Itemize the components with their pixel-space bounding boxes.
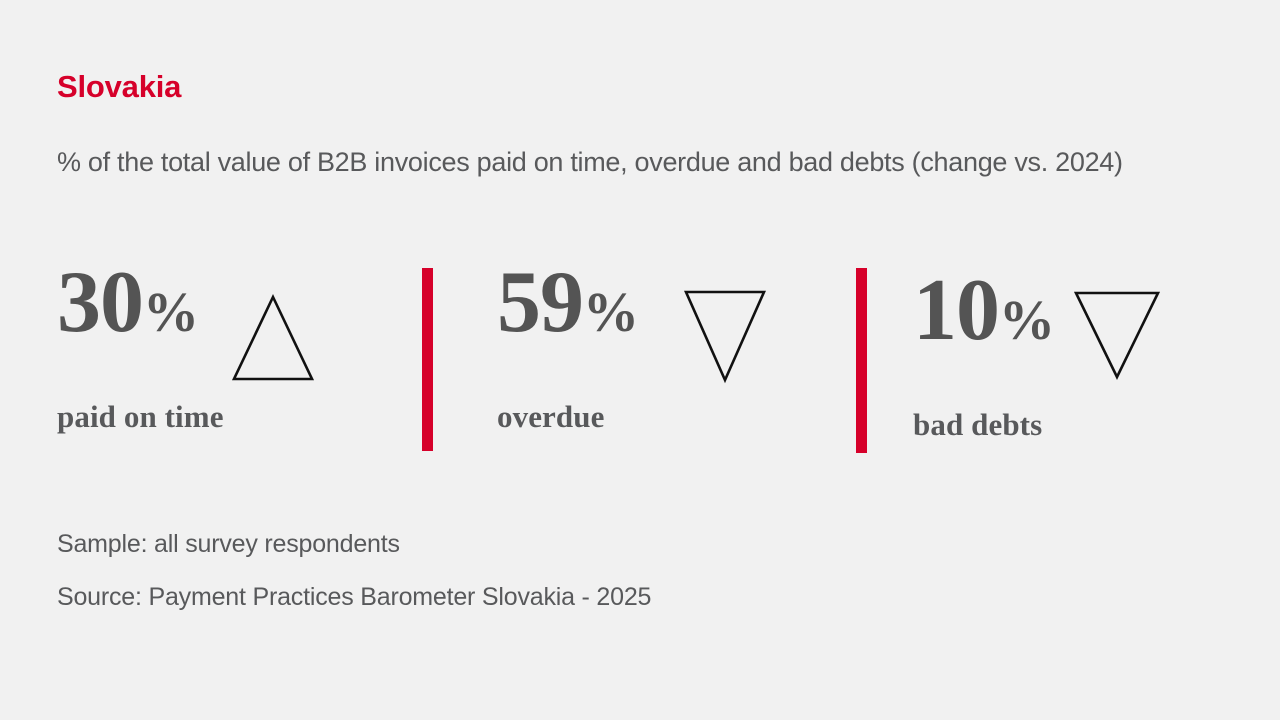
triangle-down-icon: [682, 288, 768, 384]
stat-block-overdue: 59% overdue: [497, 260, 768, 434]
stat-number: 10: [913, 262, 999, 359]
footer: Sample: all survey respondents Source: P…: [57, 532, 651, 610]
stat-label-paid-on-time: paid on time: [57, 400, 316, 434]
stat-value-overdue: 59%: [497, 260, 638, 346]
stat-value-bad-debts: 10%: [913, 268, 1054, 354]
stat-number: 30: [57, 254, 143, 351]
source-note: Source: Payment Practices Barometer Slov…: [57, 585, 651, 610]
trend-indicator-overdue: [682, 288, 768, 384]
stat-value-row: 30%: [57, 260, 316, 370]
stats-row: 30% paid on time 59%: [0, 260, 1280, 460]
stat-number: 59: [497, 254, 583, 351]
page-subtitle: % of the total value of B2B invoices pai…: [57, 145, 1217, 180]
percent-symbol: %: [143, 282, 198, 344]
stat-value-row: 59%: [497, 260, 768, 370]
page-title: Slovakia: [57, 70, 181, 104]
stat-label-bad-debts: bad debts: [913, 408, 1162, 442]
triangle-down-icon: [1072, 289, 1162, 381]
stat-value-row: 10%: [913, 268, 1162, 378]
stat-block-bad-debts: 10% bad debts: [913, 268, 1162, 442]
stat-label-overdue: overdue: [497, 400, 768, 434]
trend-indicator-bad-debts: [1072, 289, 1162, 381]
stat-block-paid-on-time: 30% paid on time: [57, 260, 316, 434]
triangle-up-icon: [230, 293, 316, 383]
infographic-canvas: Slovakia % of the total value of B2B inv…: [0, 0, 1280, 720]
section-divider-1: [422, 268, 433, 451]
stat-value-paid-on-time: 30%: [57, 260, 198, 346]
percent-symbol: %: [999, 290, 1054, 352]
percent-symbol: %: [583, 282, 638, 344]
trend-indicator-paid-on-time: [230, 293, 316, 383]
section-divider-2: [856, 268, 867, 453]
sample-note: Sample: all survey respondents: [57, 532, 651, 557]
